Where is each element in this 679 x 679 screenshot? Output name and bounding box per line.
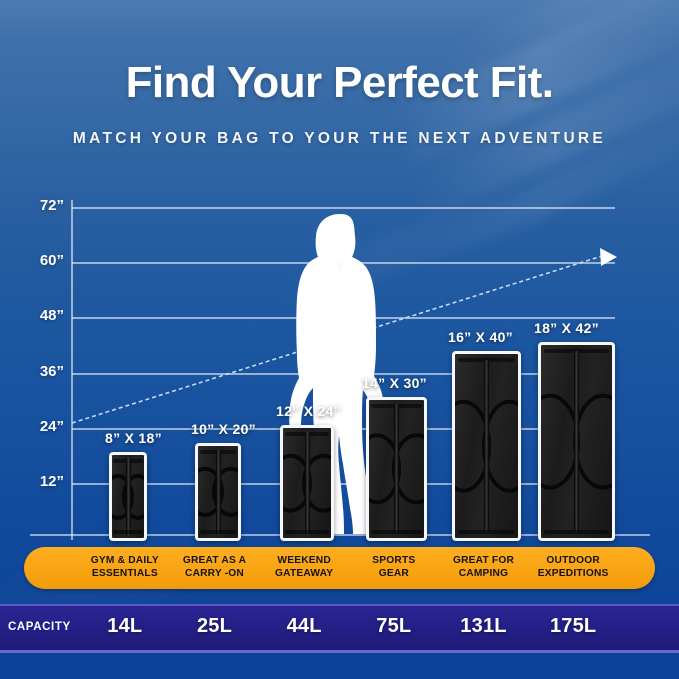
y-axis-line bbox=[71, 200, 73, 540]
bag-dimension-label: 12” X 24” bbox=[276, 403, 341, 419]
gridline-72 bbox=[72, 207, 615, 209]
bag-bottom-seam bbox=[458, 530, 516, 534]
y-axis-tick-label: 24” bbox=[18, 418, 64, 435]
y-axis-tick-label: 72” bbox=[18, 197, 64, 214]
use-case-line-1: SPORTS bbox=[347, 554, 441, 567]
use-case-item[interactable]: WEEKENDGATEAWAY bbox=[257, 554, 351, 580]
use-case-item[interactable]: GYM & DAILYESSENTIALS bbox=[78, 554, 172, 580]
infographic-canvas: Find Your Perfect Fit. MATCH YOUR BAG TO… bbox=[0, 0, 679, 679]
bag-spine bbox=[394, 404, 399, 534]
bag-bar[interactable] bbox=[195, 443, 241, 541]
y-axis-tick-label: 36” bbox=[18, 363, 64, 380]
bag-spine bbox=[305, 431, 310, 534]
use-case-item[interactable]: GREAT FORCAMPING bbox=[437, 554, 531, 580]
use-case-line-2: GEAR bbox=[347, 567, 441, 580]
use-case-line-2: EXPEDITIONS bbox=[526, 567, 620, 580]
bag-spine bbox=[216, 449, 221, 535]
capacity-value: 175L bbox=[528, 615, 618, 638]
bag-bar[interactable] bbox=[538, 342, 615, 541]
y-axis-tick-label: 60” bbox=[18, 252, 64, 269]
bag-bottom-seam bbox=[200, 530, 237, 534]
bag-bar[interactable] bbox=[109, 452, 147, 541]
bag-dimension-label: 14” X 30” bbox=[362, 375, 427, 391]
bag-bottom-seam bbox=[544, 530, 609, 534]
bag-spine bbox=[126, 457, 131, 535]
use-case-line-1: GYM & DAILY bbox=[78, 554, 172, 567]
bag-bottom-seam bbox=[113, 530, 142, 534]
bag-bar[interactable] bbox=[366, 397, 427, 541]
y-axis-tick-label: 48” bbox=[18, 307, 64, 324]
use-case-line-2: ESSENTIALS bbox=[78, 567, 172, 580]
capacity-value: 131L bbox=[439, 615, 529, 638]
bag-dimension-label: 16” X 40” bbox=[448, 329, 513, 345]
bag-spine bbox=[484, 360, 489, 533]
capacity-band: CAPACITY 14L25L44L75L131L175L bbox=[0, 604, 679, 653]
bag-bar[interactable] bbox=[280, 425, 334, 541]
use-case-line-1: GREAT AS A bbox=[168, 554, 262, 567]
use-case-item[interactable]: SPORTSGEAR bbox=[347, 554, 441, 580]
bag-bottom-seam bbox=[285, 530, 329, 534]
use-case-line-2: CARRY -ON bbox=[168, 567, 262, 580]
capacity-value: 44L bbox=[259, 615, 349, 638]
bag-dimension-label: 10” X 20” bbox=[191, 421, 256, 437]
use-case-line-2: GATEAWAY bbox=[257, 567, 351, 580]
y-axis-tick-label: 12” bbox=[18, 473, 64, 490]
use-case-line-1: WEEKEND bbox=[257, 554, 351, 567]
bag-arc-right bbox=[573, 393, 615, 490]
capacity-band-label: CAPACITY bbox=[8, 621, 71, 633]
use-case-item[interactable]: GREAT AS ACARRY -ON bbox=[168, 554, 262, 580]
capacity-value: 14L bbox=[80, 615, 170, 638]
bag-bottom-seam bbox=[371, 530, 422, 534]
use-case-line-2: CAMPING bbox=[437, 567, 531, 580]
use-case-item[interactable]: OUTDOOREXPEDITIONS bbox=[526, 554, 620, 580]
use-case-band: GYM & DAILYESSENTIALSGREAT AS ACARRY -ON… bbox=[24, 547, 655, 589]
bag-dimension-label: 18” X 42” bbox=[534, 320, 599, 336]
bag-bar[interactable] bbox=[452, 351, 521, 541]
capacity-value: 75L bbox=[349, 615, 439, 638]
use-case-line-1: OUTDOOR bbox=[526, 554, 620, 567]
bag-dimension-label: 8” X 18” bbox=[105, 430, 162, 446]
capacity-value: 25L bbox=[170, 615, 260, 638]
use-case-line-1: GREAT FOR bbox=[437, 554, 531, 567]
bag-spine bbox=[574, 351, 579, 532]
